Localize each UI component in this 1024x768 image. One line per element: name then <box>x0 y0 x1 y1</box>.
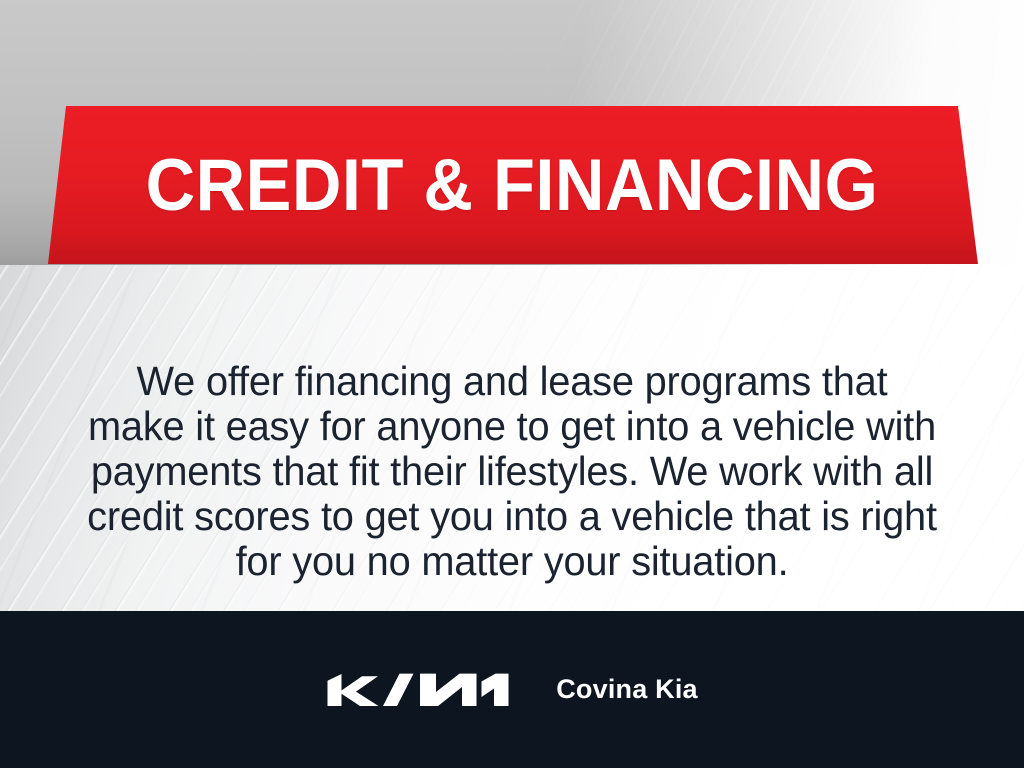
dealer-name: Covina Kia <box>556 674 698 705</box>
slide-canvas: CREDIT & FINANCING We offer financing an… <box>0 0 1024 768</box>
footer-content: Covina Kia <box>0 611 1024 768</box>
body-paragraph: We offer financing and lease programs th… <box>85 359 939 584</box>
page-title: CREDIT & FINANCING <box>31 106 994 264</box>
kia-logo-icon <box>326 670 510 710</box>
